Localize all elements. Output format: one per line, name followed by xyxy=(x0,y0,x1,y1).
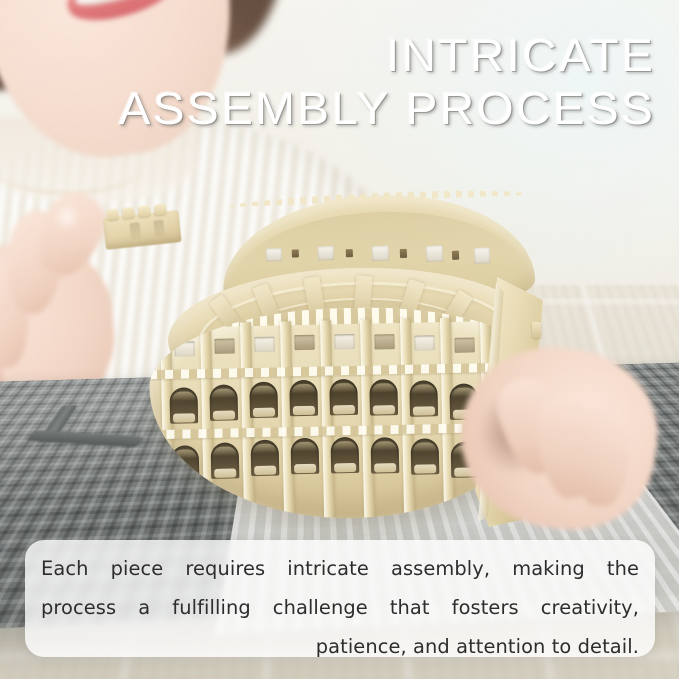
back-wall-window xyxy=(266,248,283,262)
facade-arch xyxy=(291,438,320,475)
arch-lintel xyxy=(413,442,437,452)
headline-line-1: INTRICATE xyxy=(118,34,655,78)
arch-lintel xyxy=(293,442,317,452)
back-wall-window xyxy=(318,246,335,261)
facade-arch xyxy=(329,379,358,416)
product-marketing-image: INTRICATE ASSEMBLY PROCESS Each piece re… xyxy=(0,0,679,679)
arch-lintel xyxy=(211,388,235,398)
facade-arch xyxy=(409,380,438,417)
smiling-mouth xyxy=(63,0,180,29)
facade-square-window xyxy=(334,334,354,349)
facade-pilaster xyxy=(280,321,295,521)
back-wall-window xyxy=(426,245,444,262)
facade-arch xyxy=(289,380,318,417)
thumb-nail xyxy=(52,204,82,230)
arch-lintel xyxy=(253,444,277,454)
caption-panel: Each piece requires intricate assembly, … xyxy=(25,540,655,657)
facade-square-window xyxy=(414,335,434,350)
arch-lintel xyxy=(333,441,357,451)
facade-arch xyxy=(249,382,278,419)
facade-pilaster xyxy=(360,320,375,520)
facade-arch xyxy=(371,437,400,474)
caption-line-1: Each piece requires intricate assembly, … xyxy=(41,549,639,588)
facade-pilaster xyxy=(320,320,335,520)
facade-square-window xyxy=(294,335,314,350)
facade-arch xyxy=(171,445,200,482)
facade-pilaster xyxy=(200,323,215,522)
right-hand xyxy=(445,322,657,558)
arch-lintel xyxy=(291,384,315,394)
arch-lintel xyxy=(251,386,275,396)
back-wall-dark-slot xyxy=(400,249,407,258)
teeth xyxy=(74,0,164,11)
headline-line-2: ASSEMBLY PROCESS xyxy=(118,87,655,131)
arch-lintel xyxy=(172,391,196,401)
facade-pilaster xyxy=(400,319,415,519)
facade-square-window xyxy=(254,337,274,352)
arch-lintel xyxy=(373,441,397,451)
facade-arch xyxy=(211,442,240,479)
caption-line-3: patience, and attention to detail. xyxy=(41,627,639,666)
facade-arch xyxy=(331,437,360,474)
arch-lintel xyxy=(173,449,197,459)
facade-arch xyxy=(209,384,238,421)
caption-text: Each piece requires intricate assembly, … xyxy=(41,549,639,666)
facade-square-window xyxy=(174,341,194,356)
caption-line-2: process a fulfilling challenge that fost… xyxy=(41,588,639,627)
back-wall-dark-slot xyxy=(292,249,299,257)
facade-arch xyxy=(411,438,440,475)
facade-arch xyxy=(369,379,398,416)
facade-pilaster xyxy=(240,322,255,522)
facade-arch xyxy=(251,440,280,477)
arch-lintel xyxy=(331,383,355,393)
arch-lintel xyxy=(371,383,395,393)
arch-lintel xyxy=(213,446,237,456)
back-wall-dark-slot xyxy=(346,249,353,257)
arch-lintel xyxy=(411,384,435,394)
brick-stud xyxy=(106,208,119,220)
back-wall-window xyxy=(474,247,491,264)
facade-square-window xyxy=(214,338,234,353)
facade-square-window xyxy=(374,334,394,349)
headline: INTRICATE ASSEMBLY PROCESS xyxy=(149,34,655,131)
facade-arch xyxy=(169,387,198,424)
back-wall-dark-slot xyxy=(452,251,459,260)
back-wall-window xyxy=(372,246,390,262)
